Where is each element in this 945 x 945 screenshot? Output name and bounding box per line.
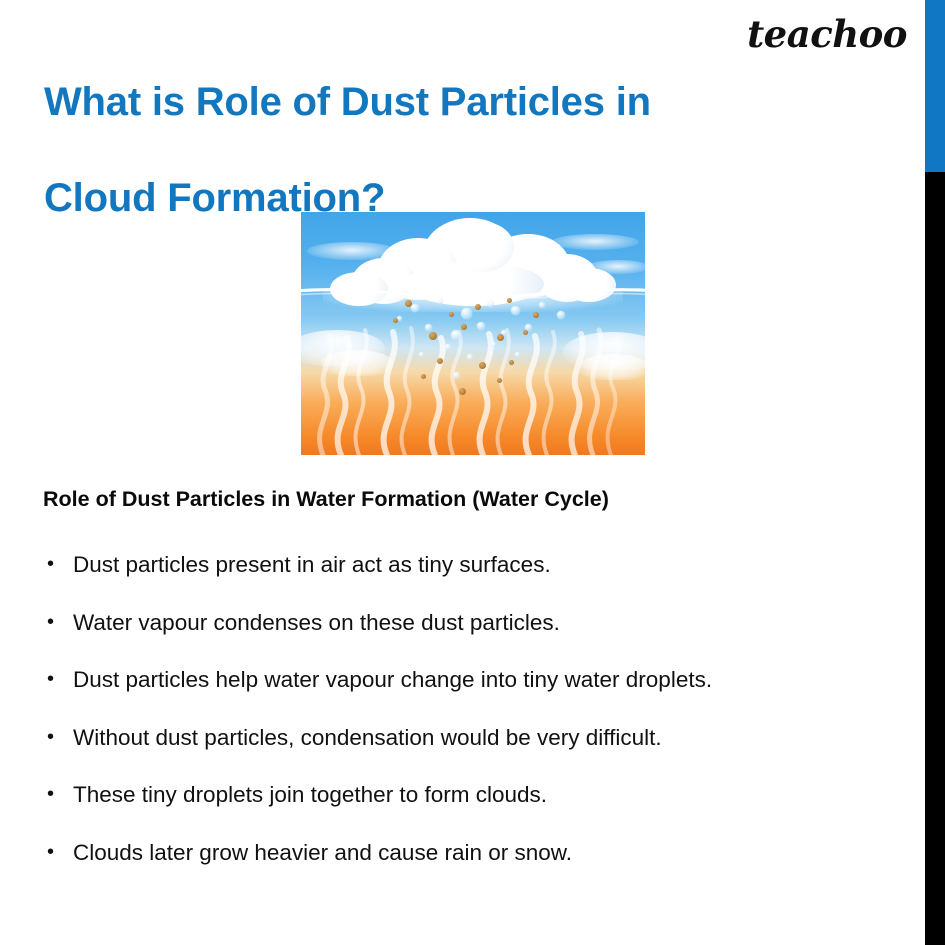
water-droplet bbox=[425, 324, 432, 331]
list-item: • Dust particles help water vapour chang… bbox=[43, 651, 903, 709]
bullet-marker-icon: • bbox=[47, 594, 54, 652]
list-item-text: Without dust particles, condensation wou… bbox=[73, 709, 903, 767]
water-droplet bbox=[491, 342, 496, 347]
dust-particle bbox=[475, 304, 481, 310]
dust-particle bbox=[461, 324, 467, 330]
water-droplet bbox=[511, 306, 520, 315]
water-droplet bbox=[445, 344, 451, 350]
water-droplet bbox=[557, 311, 565, 319]
list-item-text: Water vapour condenses on these dust par… bbox=[73, 594, 903, 652]
bullet-marker-icon: • bbox=[47, 709, 54, 767]
dust-particle bbox=[449, 312, 454, 317]
water-droplet bbox=[453, 372, 460, 379]
list-item: • These tiny droplets join together to f… bbox=[43, 766, 903, 824]
dust-and-droplet-particles bbox=[301, 212, 645, 455]
dust-particle bbox=[429, 332, 437, 340]
list-item: • Dust particles present in air act as t… bbox=[43, 536, 903, 594]
dust-particle bbox=[507, 298, 512, 303]
dust-particle bbox=[533, 312, 539, 318]
bullet-marker-icon: • bbox=[47, 766, 54, 824]
dust-particle bbox=[523, 330, 528, 335]
water-droplet bbox=[467, 354, 473, 360]
list-item-text: Dust particles help water vapour change … bbox=[73, 651, 903, 709]
dust-particle bbox=[421, 374, 426, 379]
water-droplet bbox=[451, 330, 461, 340]
dust-particle bbox=[459, 388, 466, 395]
water-droplet bbox=[419, 352, 424, 357]
dust-particle bbox=[393, 318, 398, 323]
dust-particle bbox=[509, 360, 514, 365]
water-droplet bbox=[437, 298, 443, 304]
list-item: • Clouds later grow heavier and cause ra… bbox=[43, 824, 903, 882]
dust-particle bbox=[479, 362, 486, 369]
section-heading: Role of Dust Particles in Water Formatio… bbox=[43, 487, 609, 512]
right-edge-accent-bar-black bbox=[925, 172, 945, 945]
page-title-line-1: What is Role of Dust Particles in bbox=[44, 54, 834, 150]
list-item-text: Dust particles present in air act as tin… bbox=[73, 536, 903, 594]
bullet-marker-icon: • bbox=[47, 651, 54, 709]
right-edge-accent-bar-blue bbox=[925, 0, 945, 172]
list-item: • Without dust particles, condensation w… bbox=[43, 709, 903, 767]
bullet-marker-icon: • bbox=[47, 824, 54, 882]
water-droplet bbox=[539, 302, 545, 308]
dust-particle bbox=[497, 378, 502, 383]
dust-particle bbox=[405, 300, 412, 307]
water-droplet bbox=[411, 304, 419, 312]
list-item: • Water vapour condenses on these dust p… bbox=[43, 594, 903, 652]
water-droplet bbox=[487, 300, 494, 307]
slide-canvas: teachoo What is Role of Dust Particles i… bbox=[0, 0, 945, 945]
list-item-text: These tiny droplets join together to for… bbox=[73, 766, 903, 824]
bullet-marker-icon: • bbox=[47, 536, 54, 594]
list-item-text: Clouds later grow heavier and cause rain… bbox=[73, 824, 903, 882]
water-droplet bbox=[461, 308, 472, 319]
bullet-list: • Dust particles present in air act as t… bbox=[43, 536, 903, 881]
teachoo-logo: teachoo bbox=[747, 12, 907, 56]
water-droplet bbox=[477, 322, 485, 330]
water-cycle-illustration bbox=[301, 212, 645, 455]
dust-particle bbox=[437, 358, 443, 364]
dust-particle bbox=[497, 334, 504, 341]
water-droplet bbox=[515, 352, 520, 357]
